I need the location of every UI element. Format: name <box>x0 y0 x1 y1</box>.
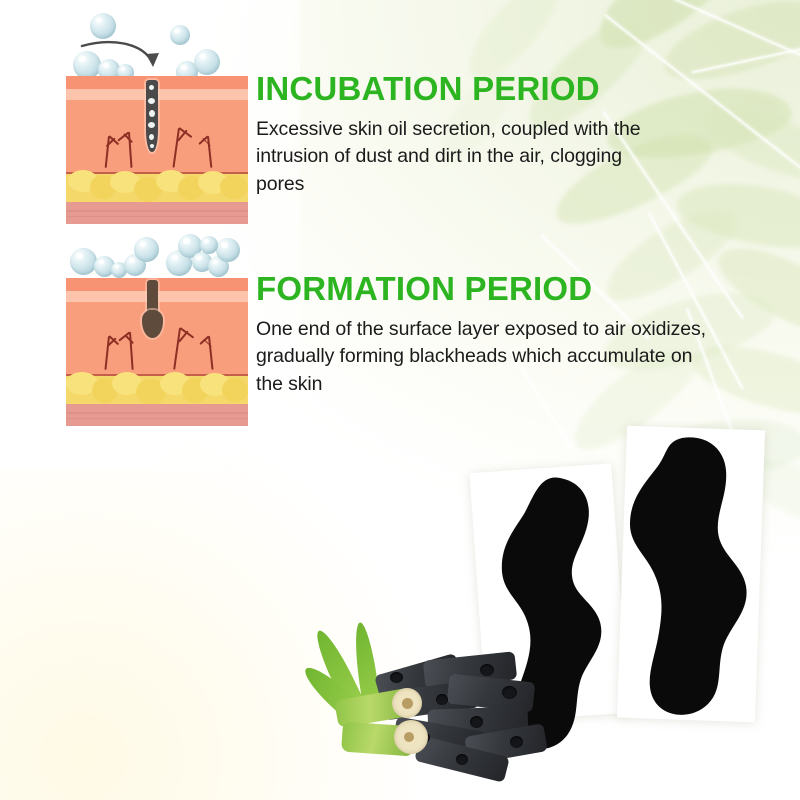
bubble <box>73 51 101 79</box>
nose-strip-right <box>620 432 760 724</box>
formation-headline: FORMATION PERIOD <box>256 272 706 307</box>
bubble <box>170 25 190 45</box>
illustration-formation <box>66 232 248 428</box>
bubble <box>200 236 218 254</box>
bubble <box>134 237 159 262</box>
clogged-pore <box>146 80 158 152</box>
section-formation: FORMATION PERIOD One end of the surface … <box>256 272 706 399</box>
bubble <box>90 13 116 39</box>
illustration-incubation <box>66 4 248 224</box>
bubble <box>216 238 240 262</box>
incubation-body: Excessive skin oil secretion, coupled wi… <box>256 116 656 199</box>
section-incubation: INCUBATION PERIOD Excessive skin oil sec… <box>256 72 656 199</box>
bubble <box>194 49 220 75</box>
formation-body: One end of the surface layer exposed to … <box>256 316 706 399</box>
bubble <box>70 248 97 275</box>
incubation-headline: INCUBATION PERIOD <box>256 72 656 107</box>
bamboo-charcoal-ingredient <box>320 620 550 790</box>
infographic-canvas: INCUBATION PERIOD Excessive skin oil sec… <box>0 0 800 800</box>
product-photo <box>470 420 800 800</box>
